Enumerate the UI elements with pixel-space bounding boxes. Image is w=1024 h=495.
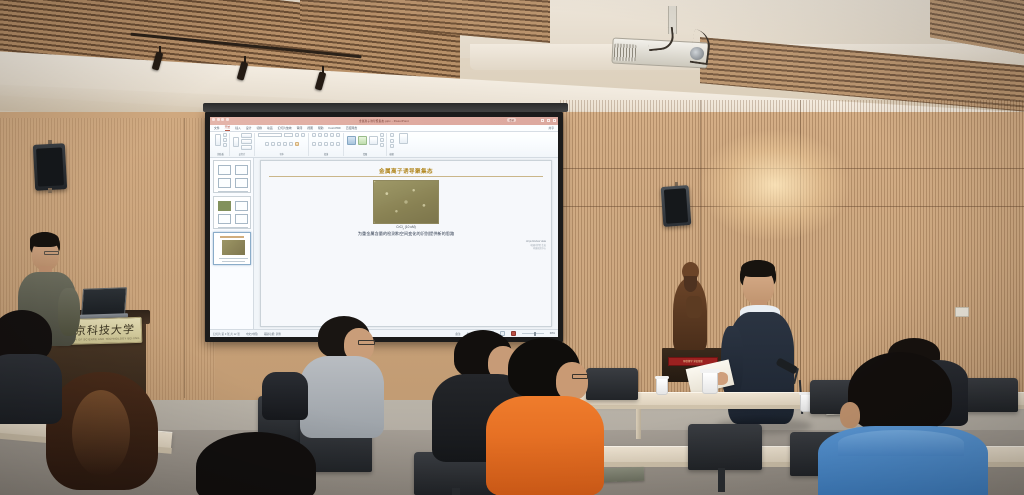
- front-left-body: [0, 354, 62, 424]
- numbering-icon[interactable]: [318, 133, 322, 137]
- ribbon-group-font[interactable]: 字体: [255, 133, 309, 156]
- shapes-icon[interactable]: [347, 136, 356, 145]
- cut-icon[interactable]: [223, 133, 227, 137]
- screen-roller-housing: [203, 103, 568, 112]
- image-caption: CrCl3 (10 uM): [261, 225, 551, 231]
- reset-icon[interactable]: [241, 139, 252, 144]
- ppt-title-bar: 金属离子诱导聚集态.pptx - PowerPoint 登录: [210, 117, 558, 125]
- quick-styles-icon[interactable]: [369, 136, 378, 145]
- tab-view[interactable]: 视图: [307, 126, 313, 131]
- increase-indent-icon[interactable]: [330, 133, 334, 137]
- chair-4-post: [718, 468, 725, 492]
- maximize-icon[interactable]: [547, 119, 550, 122]
- speaker-right-grille: [664, 188, 689, 223]
- audience-member-front-center: [196, 432, 316, 495]
- audience-orange-glasses: [572, 374, 588, 379]
- justify-icon[interactable]: [330, 142, 334, 146]
- ppt-workspace: 金属离子诱导聚集态 CrCl3 (10 uM) 为重金属含量的检测和空间变化的识…: [210, 158, 558, 329]
- group-label-drawing: 绘图: [363, 152, 367, 156]
- tab-home[interactable]: 开始: [225, 125, 231, 131]
- redo-icon[interactable]: [221, 118, 224, 121]
- front-center-hair: [196, 432, 316, 495]
- minimize-icon[interactable]: [541, 119, 544, 122]
- ribbon-group-editing[interactable]: 编辑: [387, 133, 396, 156]
- line-spacing-icon[interactable]: [336, 133, 340, 137]
- italic-icon[interactable]: [271, 142, 275, 146]
- slide-subtitle: 为重金属含量的检测和空间变化的识别提供新的思路: [261, 231, 551, 237]
- copy-icon[interactable]: [223, 138, 227, 142]
- cup-1-lid: [655, 376, 669, 379]
- underline-icon[interactable]: [277, 142, 281, 146]
- speaker-left-grille: [36, 147, 64, 187]
- group-label-slides: 幻灯片: [239, 152, 246, 156]
- slide-thumbnail-3[interactable]: [213, 232, 251, 265]
- speaker-left-post: [48, 188, 52, 193]
- tab-slideshow[interactable]: 幻灯片放映: [278, 126, 292, 131]
- format-painter-icon[interactable]: [223, 143, 227, 147]
- section-icon[interactable]: [241, 145, 252, 150]
- current-slide[interactable]: 金属离子诱导聚集态 CrCl3 (10 uM) 为重金属含量的检测和空间变化的识…: [260, 160, 552, 327]
- audience-grey-glasses: [358, 340, 375, 345]
- share-button[interactable]: 共享: [548, 126, 554, 131]
- operator-glasses: [44, 251, 59, 255]
- tab-baidu-netdisk[interactable]: 百度网盘: [346, 126, 357, 131]
- cup-2-lid: [700, 369, 720, 373]
- slide-footer-affiliation: 中国科学院·生态 环境研究中心: [530, 245, 546, 251]
- font-size-select[interactable]: [284, 133, 293, 136]
- longhair-highlight: [72, 390, 130, 476]
- chair-8-post: [452, 488, 460, 495]
- audience-member-grey: [296, 316, 392, 434]
- audience-orange-shirt: [486, 396, 604, 495]
- ribbon-tabs[interactable]: 文件 开始 插入 设计 切换 动画 幻灯片放映 审阅 视图 帮助 Foxit P…: [210, 125, 558, 132]
- projection-screen: 金属离子诱导聚集态.pptx - PowerPoint 登录 文件 开始 插入 …: [210, 117, 558, 337]
- replace-icon[interactable]: [390, 139, 394, 143]
- save-icon[interactable]: [212, 118, 215, 121]
- font-color-icon[interactable]: [295, 142, 299, 146]
- tab-transitions[interactable]: 切换: [256, 126, 262, 131]
- tab-file[interactable]: 文件: [214, 126, 220, 131]
- signin-label[interactable]: 登录: [507, 118, 516, 122]
- projector-vent: [614, 43, 637, 61]
- language-indicator[interactable]: 中文(中国): [246, 332, 258, 336]
- group-label-font: 字体: [279, 152, 283, 156]
- audience-member-orange: [486, 338, 610, 495]
- operator-hair-top: [30, 232, 59, 247]
- ribbon-group-dictate[interactable]: [396, 133, 410, 156]
- align-left-icon[interactable]: [312, 142, 316, 146]
- confucius-statue-arms: [686, 296, 702, 318]
- paste-icon[interactable]: [215, 134, 221, 146]
- ppt-document-title: 金属离子诱导聚集态.pptx - PowerPoint: [359, 119, 409, 123]
- slide-thumbnail-1[interactable]: [213, 160, 251, 193]
- slide-title: 金属离子诱导聚集态: [261, 167, 551, 175]
- powerpoint-window: 金属离子诱导聚集态.pptx - PowerPoint 登录 文件 开始 插入 …: [210, 117, 558, 337]
- slide-thumbnail-panel[interactable]: [210, 158, 254, 329]
- slide-thumbnail-2[interactable]: [213, 196, 251, 229]
- dictate-icon[interactable]: [399, 133, 408, 144]
- align-center-icon[interactable]: [318, 142, 322, 146]
- ribbon[interactable]: 剪贴板 幻灯片: [210, 132, 558, 158]
- audience-grey-shirt: [300, 356, 384, 438]
- select-icon[interactable]: [390, 144, 394, 148]
- arrange-icon[interactable]: [358, 136, 367, 145]
- columns-icon[interactable]: [336, 142, 340, 146]
- tab-insert[interactable]: 插入: [235, 126, 241, 131]
- tab-help[interactable]: 帮助: [318, 126, 324, 131]
- decrease-font-icon[interactable]: [301, 133, 305, 137]
- group-label-paragraph: 段落: [324, 152, 328, 156]
- blue-hoodie-ear: [840, 402, 860, 428]
- strikethrough-icon[interactable]: [283, 142, 287, 146]
- tab-design[interactable]: 设计: [246, 126, 252, 131]
- wall-seam-v-3: [184, 118, 185, 398]
- shape-fill-icon[interactable]: [380, 133, 384, 137]
- wall-speaker-left: [33, 143, 67, 191]
- lectern-laptop-screen[interactable]: [81, 287, 127, 317]
- bullets-icon[interactable]: [312, 133, 316, 137]
- presenter-hair-top: [741, 260, 775, 277]
- chair-4: [688, 424, 762, 470]
- blue-hoodie-hood: [838, 430, 964, 456]
- statue-plate-text: 厚德博学 求实鼎新: [683, 360, 703, 364]
- audience-orange-head: [556, 362, 588, 400]
- audience-member-front-left: [0, 310, 62, 420]
- tab-animations[interactable]: 动画: [267, 126, 273, 131]
- new-slide-icon[interactable]: [233, 137, 239, 147]
- group-label-dictate: [403, 154, 404, 156]
- increase-font-icon[interactable]: [295, 133, 299, 137]
- table-right-back-leg-1: [636, 409, 641, 439]
- wall-outlet-plate: [955, 307, 969, 317]
- quick-access-toolbar[interactable]: [212, 118, 229, 121]
- ribbon-group-paragraph[interactable]: 段落: [309, 133, 344, 156]
- align-right-icon[interactable]: [324, 142, 328, 146]
- accessibility-indicator[interactable]: 辅助功能: 调查: [264, 332, 281, 336]
- group-label-editing: 编辑: [390, 152, 394, 156]
- wall-speaker-right: [661, 185, 692, 227]
- slideshow-icon[interactable]: [226, 118, 229, 121]
- shape-effects-icon[interactable]: [380, 143, 384, 147]
- caption-concentration: (10 uM): [404, 225, 416, 229]
- slide-editing-area[interactable]: 金属离子诱导聚集态 CrCl3 (10 uM) 为重金属含量的检测和空间变化的识…: [254, 158, 558, 329]
- ribbon-group-drawing[interactable]: 绘图: [344, 133, 387, 156]
- blue-hoodie-hair: [848, 352, 952, 432]
- bold-icon[interactable]: [265, 142, 269, 146]
- undo-icon[interactable]: [217, 118, 220, 121]
- backpack-on-chair: [262, 372, 308, 420]
- photo-scene: 金属离子诱导聚集态.pptx - PowerPoint 登录 文件 开始 插入 …: [0, 0, 1024, 495]
- confucius-statue-beard: [684, 276, 697, 292]
- account-area[interactable]: 登录: [507, 118, 516, 122]
- decrease-indent-icon[interactable]: [324, 133, 328, 137]
- cup-1: [656, 378, 668, 395]
- tab-foxit-pdf[interactable]: Foxit PDF: [328, 126, 340, 131]
- layout-icon[interactable]: [241, 133, 252, 138]
- wall-light-glow: [700, 130, 850, 240]
- micrograph-image[interactable]: [373, 180, 439, 224]
- zoom-level[interactable]: 68%: [550, 332, 555, 335]
- slide-indicator: 幻灯片 第 3 张,共 12 张: [213, 332, 240, 336]
- tab-review[interactable]: 审阅: [297, 126, 303, 131]
- audience-member-blue-hoodie: [818, 352, 988, 495]
- close-icon[interactable]: [553, 119, 556, 122]
- shadow-icon[interactable]: [289, 142, 293, 146]
- ribbon-group-slides[interactable]: 幻灯片: [230, 133, 255, 156]
- font-family-select[interactable]: [258, 133, 282, 136]
- slide-title-rule: [269, 176, 543, 177]
- window-controls[interactable]: [541, 119, 556, 122]
- ribbon-group-clipboard[interactable]: 剪贴板: [212, 133, 230, 156]
- slide-note-unpublished: Unpublished data: [526, 240, 546, 243]
- shape-outline-icon[interactable]: [380, 138, 384, 142]
- find-icon[interactable]: [390, 133, 394, 137]
- group-label-clipboard: 剪贴板: [217, 152, 224, 156]
- cup-2: [702, 372, 718, 394]
